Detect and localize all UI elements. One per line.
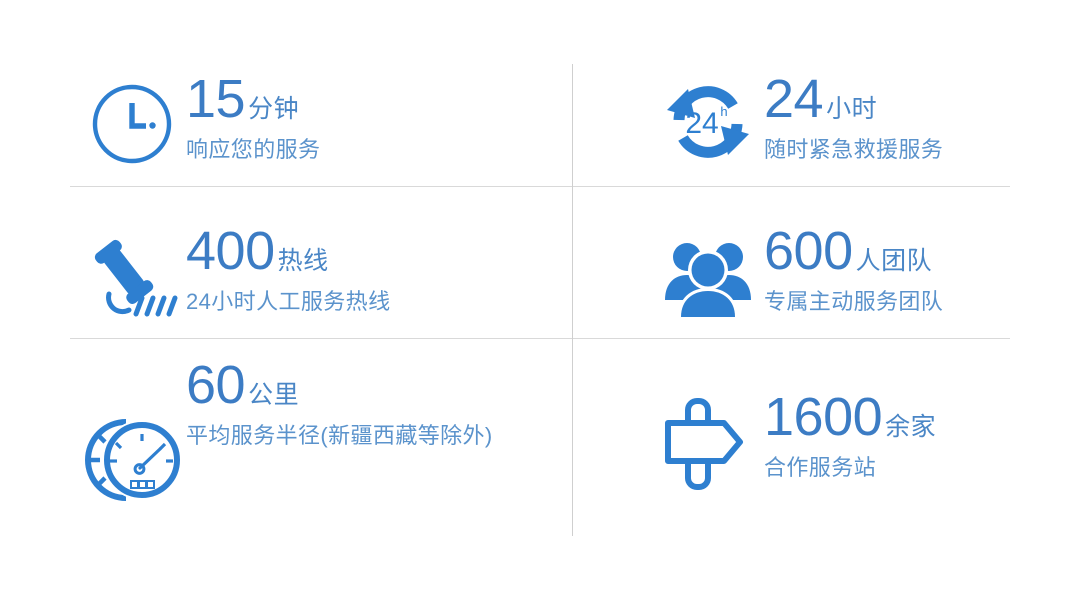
people-group-icon <box>662 238 754 318</box>
clock-icon-wrap <box>78 74 186 174</box>
stat-description-response: 响应您的服务 <box>186 135 556 164</box>
stat-number-hotline: 400 <box>186 224 275 278</box>
stat-description-stations: 合作服务站 <box>764 453 1052 482</box>
stat-number-stations: 1600 <box>764 390 882 444</box>
stat-cell-radius: 60 公里 平均服务半径(新疆西藏等除外) <box>78 358 568 516</box>
stat-cell-hotline: 400 热线 24小时人工服务热线 <box>78 224 558 324</box>
stat-number-team: 600 <box>764 224 853 278</box>
stat-description-team: 专属主动服务团队 <box>764 287 1052 316</box>
divider-horizontal-top <box>70 186 1010 187</box>
stat-line-hotline: 400 热线 <box>186 224 558 278</box>
stat-text-radius: 60 公里 平均服务半径(新疆西藏等除外) <box>186 358 568 450</box>
divider-horizontal-bottom <box>70 338 1010 339</box>
stat-line-emergency: 24 小时 <box>764 72 1052 126</box>
stat-line-team: 600 人团队 <box>764 224 1052 278</box>
stat-cell-stations: 1600 余家 合作服务站 <box>652 390 1052 494</box>
stat-description-hotline: 24小时人工服务热线 <box>186 287 556 316</box>
stat-description-radius: 平均服务半径(新疆西藏等除外) <box>186 421 551 450</box>
stat-description-emergency: 随时紧急救援服务 <box>764 135 1052 164</box>
people-group-icon-wrap <box>652 232 764 324</box>
stat-text-emergency: 24 小时 随时紧急救援服务 <box>764 72 1052 164</box>
stat-number-radius: 60 <box>186 358 245 412</box>
stat-line-response: 15 分钟 <box>186 72 558 126</box>
stat-unit-response: 分钟 <box>248 97 299 122</box>
signpost-icon <box>662 397 754 491</box>
24h-icon-superscript: h <box>720 104 727 119</box>
clock-icon <box>89 81 175 167</box>
phone-handset-icon <box>87 236 177 320</box>
speedometer-icon-wrap <box>78 406 186 516</box>
24h-cycle-icon-wrap: 24 h <box>652 72 764 172</box>
speedometer-icon <box>80 413 184 509</box>
stat-text-hotline: 400 热线 24小时人工服务热线 <box>186 224 558 316</box>
stat-line-radius: 60 公里 <box>186 358 568 412</box>
stat-unit-radius: 公里 <box>248 383 299 408</box>
signpost-icon-wrap <box>652 394 764 494</box>
stat-cell-team: 600 人团队 专属主动服务团队 <box>652 224 1052 324</box>
stat-number-emergency: 24 <box>764 72 823 126</box>
stat-unit-stations: 余家 <box>885 415 936 440</box>
stat-text-stations: 1600 余家 合作服务站 <box>764 390 1052 482</box>
24h-icon-number: 24 <box>685 107 718 140</box>
service-stats-infographic: 15 分钟 响应您的服务 24 h 24 小时 随时紧急救 <box>0 0 1080 611</box>
phone-handset-icon-wrap <box>78 232 186 324</box>
divider-vertical <box>572 64 573 536</box>
stat-unit-emergency: 小时 <box>826 97 877 122</box>
stat-line-stations: 1600 余家 <box>764 390 1052 444</box>
stat-cell-response: 15 分钟 响应您的服务 <box>78 72 558 174</box>
stat-text-response: 15 分钟 响应您的服务 <box>186 72 558 164</box>
stat-text-team: 600 人团队 专属主动服务团队 <box>764 224 1052 316</box>
stat-number-response: 15 <box>186 72 245 126</box>
stat-cell-emergency: 24 h 24 小时 随时紧急救援服务 <box>652 72 1052 172</box>
24h-cycle-icon: 24 h <box>662 76 754 168</box>
stat-unit-team: 人团队 <box>856 249 933 274</box>
stat-unit-hotline: 热线 <box>278 249 329 274</box>
